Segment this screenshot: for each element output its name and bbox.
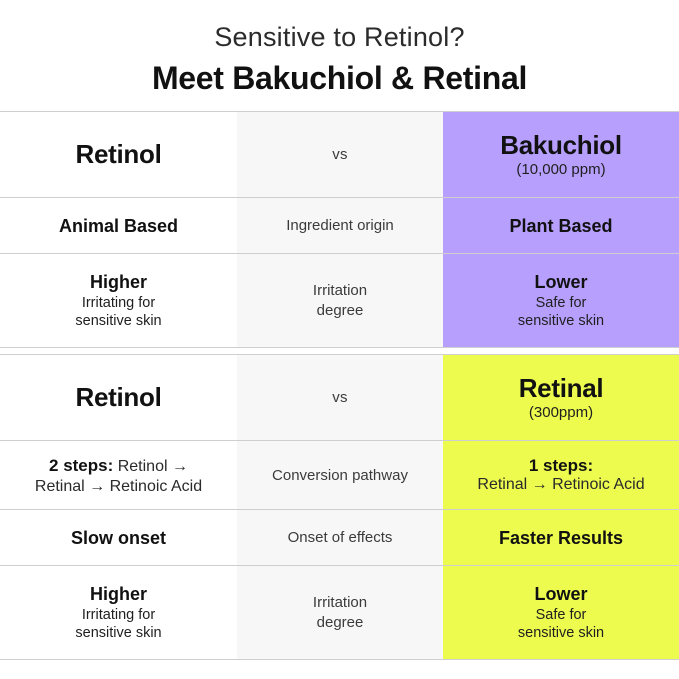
infographic-page: Sensitive to Retinol? Meet Bakuchiol & R… [0, 0, 679, 679]
cell-left-value: Animal Based [0, 198, 237, 253]
cell-right-value: 1 steps: Retinal → Retinoic Acid [443, 441, 679, 509]
right-note-line-2: sensitive skin [518, 312, 604, 331]
right-value: Plant Based [509, 215, 612, 238]
cell-middle-attribute: Irritation degree [237, 254, 443, 347]
right-note-line-1: Safe for [536, 294, 587, 313]
attribute-label-line-1: Irritation [313, 281, 367, 301]
left-pathway-line-1: 2 steps: Retinol → [49, 455, 188, 478]
attribute-label: Conversion pathway [272, 466, 408, 486]
cell-middle-attribute: vs [237, 355, 443, 440]
cell-middle-attribute: Conversion pathway [237, 441, 443, 509]
left-note-line-2: sensitive skin [75, 312, 161, 331]
comparison-table-retinal: Retinol vs Retinal (300ppm) 2 steps: Ret… [0, 354, 679, 660]
versus-label: vs [332, 146, 348, 163]
left-product-name: Retinol [75, 383, 161, 413]
right-value: Lower [534, 271, 587, 294]
right-step-count: 1 steps: [529, 456, 593, 476]
right-value: Lower [534, 583, 587, 606]
table-row: Higher Irritating for sensitive skin Irr… [0, 254, 679, 347]
cell-right-value: Plant Based [443, 198, 679, 253]
page-title: Meet Bakuchiol & Retinal [0, 59, 679, 97]
left-pathway-line-2: Retinal → Retinoic Acid [35, 478, 202, 496]
right-note-line-2: sensitive skin [518, 624, 604, 643]
cell-left-value: Higher Irritating for sensitive skin [0, 566, 237, 659]
right-product-concentration: (300ppm) [529, 404, 593, 423]
cell-left-value: Higher Irritating for sensitive skin [0, 254, 237, 347]
table-row: Animal Based Ingredient origin Plant Bas… [0, 198, 679, 254]
table-row: Higher Irritating for sensitive skin Irr… [0, 566, 679, 659]
right-pathway-line-2: Retinal → Retinoic Acid [477, 476, 644, 494]
attribute-label-line-1: Irritation [313, 593, 367, 613]
left-value: Animal Based [59, 215, 178, 238]
right-product-concentration: (10,000 ppm) [516, 161, 605, 180]
cell-middle-attribute: Irritation degree [237, 566, 443, 659]
attribute-label: Ingredient origin [286, 216, 394, 236]
cell-right-value: Lower Safe for sensitive skin [443, 566, 679, 659]
comparison-tables: Retinol vs Bakuchiol (10,000 ppm) Animal… [0, 111, 679, 660]
cell-left-value: Slow onset [0, 510, 237, 565]
cell-left-product: Retinol [0, 355, 237, 440]
left-note-line-1: Irritating for [82, 606, 155, 625]
attribute-label-line-2: degree [317, 301, 364, 321]
versus-label: vs [332, 389, 348, 406]
table-row: 2 steps: Retinol → Retinal → Retinoic Ac… [0, 441, 679, 510]
cell-right-product: Bakuchiol (10,000 ppm) [443, 112, 679, 197]
left-value: Higher [90, 583, 147, 606]
cell-middle-attribute: Onset of effects [237, 510, 443, 565]
left-note-line-2: sensitive skin [75, 624, 161, 643]
right-product-name: Bakuchiol [500, 131, 622, 161]
left-value: Higher [90, 271, 147, 294]
cell-middle-attribute: Ingredient origin [237, 198, 443, 253]
cell-right-value: Lower Safe for sensitive skin [443, 254, 679, 347]
attribute-label: Onset of effects [288, 528, 393, 548]
cell-right-value: Faster Results [443, 510, 679, 565]
cell-middle-attribute: vs [237, 112, 443, 197]
left-step-count: 2 steps: [49, 456, 113, 475]
table-row: Retinol vs Bakuchiol (10,000 ppm) [0, 112, 679, 198]
right-value: Faster Results [499, 527, 623, 550]
comparison-table-bakuchiol: Retinol vs Bakuchiol (10,000 ppm) Animal… [0, 111, 679, 348]
left-value: Slow onset [71, 527, 166, 550]
cell-left-product: Retinol [0, 112, 237, 197]
table-row: Retinol vs Retinal (300ppm) [0, 355, 679, 441]
cell-left-value: 2 steps: Retinol → Retinal → Retinoic Ac… [0, 441, 237, 509]
attribute-label-line-2: degree [317, 613, 364, 633]
left-product-name: Retinol [75, 140, 161, 170]
right-note-line-1: Safe for [536, 606, 587, 625]
header: Sensitive to Retinol? Meet Bakuchiol & R… [0, 0, 679, 97]
left-note-line-1: Irritating for [82, 294, 155, 313]
header-subtitle: Sensitive to Retinol? [0, 22, 679, 53]
right-product-name: Retinal [519, 374, 604, 404]
left-pathway-start: Retinol → [118, 458, 188, 475]
cell-right-product: Retinal (300ppm) [443, 355, 679, 440]
table-row: Slow onset Onset of effects Faster Resul… [0, 510, 679, 566]
